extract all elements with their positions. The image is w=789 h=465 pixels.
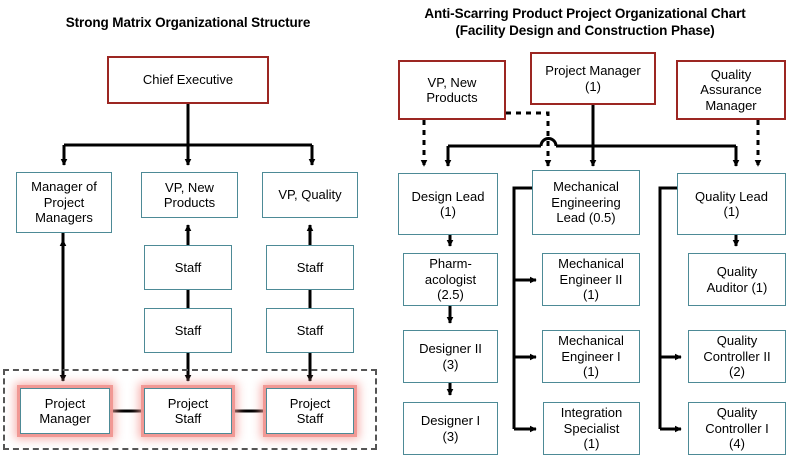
node-left-staff-np-1[interactable]: Staff [144,245,232,290]
node-left-staff-q-1[interactable]: Staff [266,245,354,290]
node-right-mechanical-engineer-i[interactable]: Mechanical Engineer I (1) [542,330,640,383]
node-right-vp-new-products[interactable]: VP, New Products [398,60,506,120]
node-right-project-manager[interactable]: Project Manager (1) [530,52,656,105]
node-right-quality-lead[interactable]: Quality Lead (1) [677,173,786,235]
left-chart-title: Strong Matrix Organizational Structure [0,14,376,31]
node-left-project-staff-2[interactable]: Project Staff [266,388,354,434]
node-left-vp-new-products[interactable]: VP, New Products [141,172,238,218]
node-right-integration-specialist[interactable]: Integration Specialist (1) [543,402,640,455]
node-left-chief-executive[interactable]: Chief Executive [107,56,269,104]
node-left-project-manager[interactable]: Project Manager [20,388,110,434]
node-left-staff-q-2[interactable]: Staff [266,308,354,353]
node-left-project-staff-1[interactable]: Project Staff [144,388,232,434]
node-right-designer-ii[interactable]: Designer II (3) [403,330,498,383]
node-left-vp-quality[interactable]: VP, Quality [262,172,358,218]
node-left-staff-np-2[interactable]: Staff [144,308,232,353]
node-right-design-lead[interactable]: Design Lead (1) [398,173,498,235]
node-right-mechanical-engineering-lead[interactable]: Mechanical Engineering Lead (0.5) [532,170,640,235]
right-chart-title-line2: (Facility Design and Construction Phase) [382,22,788,39]
node-right-quality-auditor[interactable]: Quality Auditor (1) [688,253,786,306]
org-chart-canvas: Strong Matrix Organizational Structure A… [0,0,789,465]
node-right-pharmacologist[interactable]: Pharm- acologist (2.5) [403,253,498,306]
node-right-quality-controller-i[interactable]: Quality Controller I (4) [688,402,786,455]
node-right-quality-controller-ii[interactable]: Quality Controller II (2) [688,330,786,383]
node-left-manager-of-project-managers[interactable]: Manager of Project Managers [16,172,112,233]
node-right-mechanical-engineer-ii[interactable]: Mechanical Engineer II (1) [542,253,640,306]
node-right-designer-i[interactable]: Designer I (3) [403,402,498,455]
node-right-quality-assurance-manager[interactable]: Quality Assurance Manager [676,60,786,120]
right-chart-title-line1: Anti-Scarring Product Project Organizati… [382,5,788,22]
